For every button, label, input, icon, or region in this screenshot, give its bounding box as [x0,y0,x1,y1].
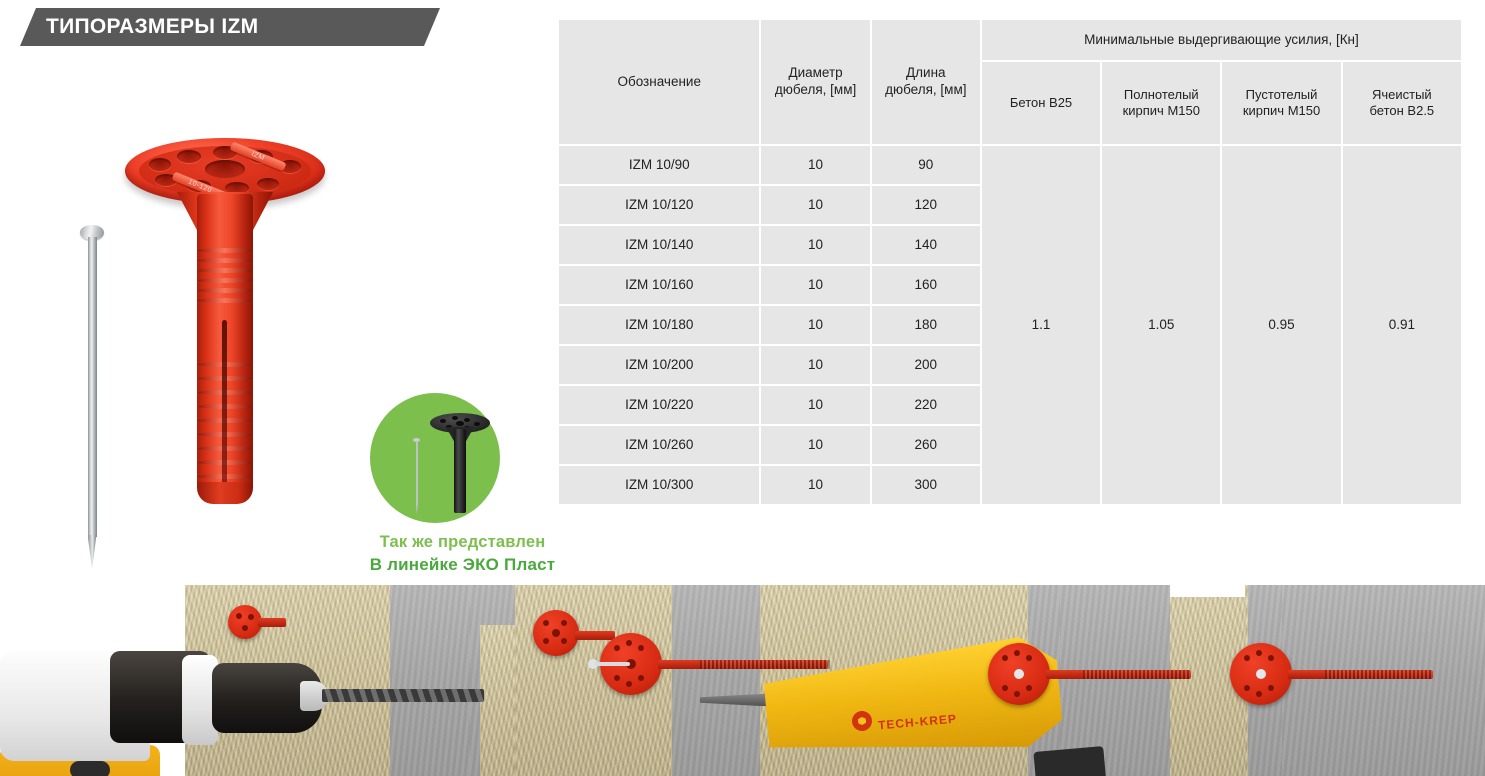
col-header-concrete-b25-line1: Бетон В25 [1010,95,1072,110]
cell-length: 300 [872,466,980,504]
disc-hole [561,638,567,644]
dowel-ring [198,268,252,273]
cell-length: 180 [872,306,980,344]
disc-hole [614,645,620,651]
table-row: IZM 10/90 10 90 1.1 1.05 0.95 0.91 [559,146,1461,184]
col-header-diameter-line2: дюбеля, [мм] [775,82,856,97]
page-title: ТИПОРАЗМЕРЫ IZM [46,8,258,46]
cell-force-aerated-concrete: 0.91 [1343,146,1461,504]
hammer-handle [1033,746,1106,776]
wall-concrete [672,585,767,776]
cell-diameter: 10 [761,226,869,264]
col-header-designation: Обозначение [559,20,759,144]
installation-photo-strip: TECH-KREP [0,585,1485,776]
cell-diameter: 10 [761,426,869,464]
col-header-forces-group: Минимальные выдергивающие усилия, [Кн] [982,20,1461,60]
eco-nail-shank [416,441,419,507]
disc-hole [543,638,549,644]
eco-circle [370,393,500,523]
disc-hole [1244,685,1250,691]
wall-concrete [1282,585,1485,776]
dowel-disc [228,605,262,639]
cell-designation: IZM 10/90 [559,146,759,184]
product-illustration: IZM 10-120 [55,130,525,580]
cell-designation: IZM 10/140 [559,226,759,264]
col-header-hollow-brick: Пустотелый кирпич М150 [1222,62,1340,144]
drill-bit [322,689,484,702]
disc-hole [614,675,620,681]
disc-center-hole [552,629,560,637]
disc-hole [1014,691,1020,697]
eco-disc-center-hole [456,421,464,426]
cell-diameter: 10 [761,466,869,504]
dowel-ring [198,258,252,263]
cell-length: 260 [872,426,980,464]
cell-designation: IZM 10/220 [559,386,759,424]
eco-badge-text: Так же представлен В линейке ЭКО Пласт [340,533,585,575]
cell-length: 120 [872,186,980,224]
dowel-disc [988,643,1050,705]
disc-hole [257,178,279,190]
spec-table: Обозначение Диаметр дюбеля, [мм] Длина д… [557,18,1463,506]
table-header: Обозначение Диаметр дюбеля, [мм] Длина д… [559,20,1461,144]
cell-diameter: 10 [761,386,869,424]
dowel-shaft-ribs [1325,670,1433,679]
col-header-solid-brick-line2: кирпич М150 [1123,103,1200,118]
disc-hole [1002,655,1008,661]
drill-trigger [70,761,110,776]
disc-hole [236,613,242,619]
header-row-top: Обозначение Диаметр дюбеля, [мм] Длина д… [559,20,1461,60]
eco-badge: Так же представлен В линейке ЭКО Пласт [360,393,585,583]
cell-diameter: 10 [761,146,869,184]
col-header-concrete-b25: Бетон В25 [982,62,1100,144]
disc-hole [543,620,549,626]
disc-hole [1256,650,1262,656]
disc-hole [1026,685,1032,691]
dowel-tip [197,482,253,504]
eco-disc-hole [474,422,480,426]
red-dowel-image: IZM 10-120 [125,130,345,520]
disc-hole [242,625,248,631]
eco-dowel-icon [430,413,490,513]
eco-badge-line1: Так же представлен [340,533,585,552]
col-header-diameter: Диаметр дюбеля, [мм] [761,20,869,144]
drill-tool [0,633,470,776]
cell-length: 90 [872,146,980,184]
col-header-solid-brick: Полнотелый кирпич М150 [1102,62,1220,144]
disc-hole [1268,655,1274,661]
metal-nail-image [77,225,107,565]
col-header-hollow-brick-line2: кирпич М150 [1243,103,1320,118]
col-header-length-line1: Длина [906,65,946,80]
cell-length: 160 [872,266,980,304]
col-header-hollow-brick-line1: Пустотелый [1246,87,1318,102]
cell-length: 140 [872,226,980,264]
disc-hole [177,150,201,163]
disc-hole [1014,650,1020,656]
col-header-length-line2: дюбеля, [мм] [885,82,966,97]
section-banner: ТИПОРАЗМЕРЫ IZM [0,8,470,48]
dowel-ring [198,288,252,293]
disc-hole [248,614,254,620]
disc-center-nail [1014,669,1024,679]
dowel-ring [198,278,252,283]
disc-hole [1002,685,1008,691]
col-header-aerated-concrete-line2: бетон В2.5 [1369,103,1434,118]
dowel-ring [198,248,252,253]
dowel-expansion-slot [222,320,227,485]
dowel-disc [533,610,579,656]
cell-length: 220 [872,386,980,424]
cell-force-hollow-brick: 0.95 [1222,146,1340,504]
disc-hole [1268,685,1274,691]
disc-hole [1026,655,1032,661]
disc-center-nail [1256,669,1266,679]
disc-hole [626,681,632,687]
disc-hole [1244,655,1250,661]
cell-diameter: 10 [761,266,869,304]
disc-hole [561,620,567,626]
eco-dowel-shaft [454,429,466,513]
disc-center-hole [205,160,245,178]
eco-badge-line2: В линейке ЭКО Пласт [340,555,585,575]
cell-designation: IZM 10/160 [559,266,759,304]
eco-disc-hole [440,419,446,423]
dowel-ring [198,298,252,303]
cell-diameter: 10 [761,306,869,344]
col-header-solid-brick-line1: Полнотелый [1124,87,1199,102]
disc-hole [149,158,171,171]
cell-designation: IZM 10/180 [559,306,759,344]
eco-disc-hole [452,416,458,420]
table-body: IZM 10/90 10 90 1.1 1.05 0.95 0.91 IZM 1… [559,146,1461,504]
dowel-shaft-ribs [1083,670,1191,679]
col-header-aerated-concrete-line1: Ячеистый [1372,87,1432,102]
cell-designation: IZM 10/120 [559,186,759,224]
cell-force-concrete-b25: 1.1 [982,146,1100,504]
disc-hole [638,645,644,651]
dowel-shaft [575,631,615,640]
col-header-diameter-line1: Диаметр [788,65,842,80]
cell-designation: IZM 10/260 [559,426,759,464]
cell-designation: IZM 10/300 [559,466,759,504]
eco-nail-icon [413,438,420,513]
disc-hole [1256,691,1262,697]
cell-designation: IZM 10/200 [559,346,759,384]
col-header-aerated-concrete: Ячеистый бетон В2.5 [1343,62,1461,144]
cell-length: 200 [872,346,980,384]
nail-shank [88,237,97,537]
col-header-length: Длина дюбеля, [мм] [872,20,980,144]
dowel-shaft [258,618,286,627]
eco-disc-hole [464,418,470,422]
nail-tip [88,535,97,569]
nail-shank [594,662,630,666]
cell-diameter: 10 [761,346,869,384]
disc-hole [626,640,632,646]
disc-hole [638,675,644,681]
eco-nail-tip [416,506,419,514]
dowel-disc [1230,643,1292,705]
cell-force-solid-brick: 1.05 [1102,146,1220,504]
cell-diameter: 10 [761,186,869,224]
